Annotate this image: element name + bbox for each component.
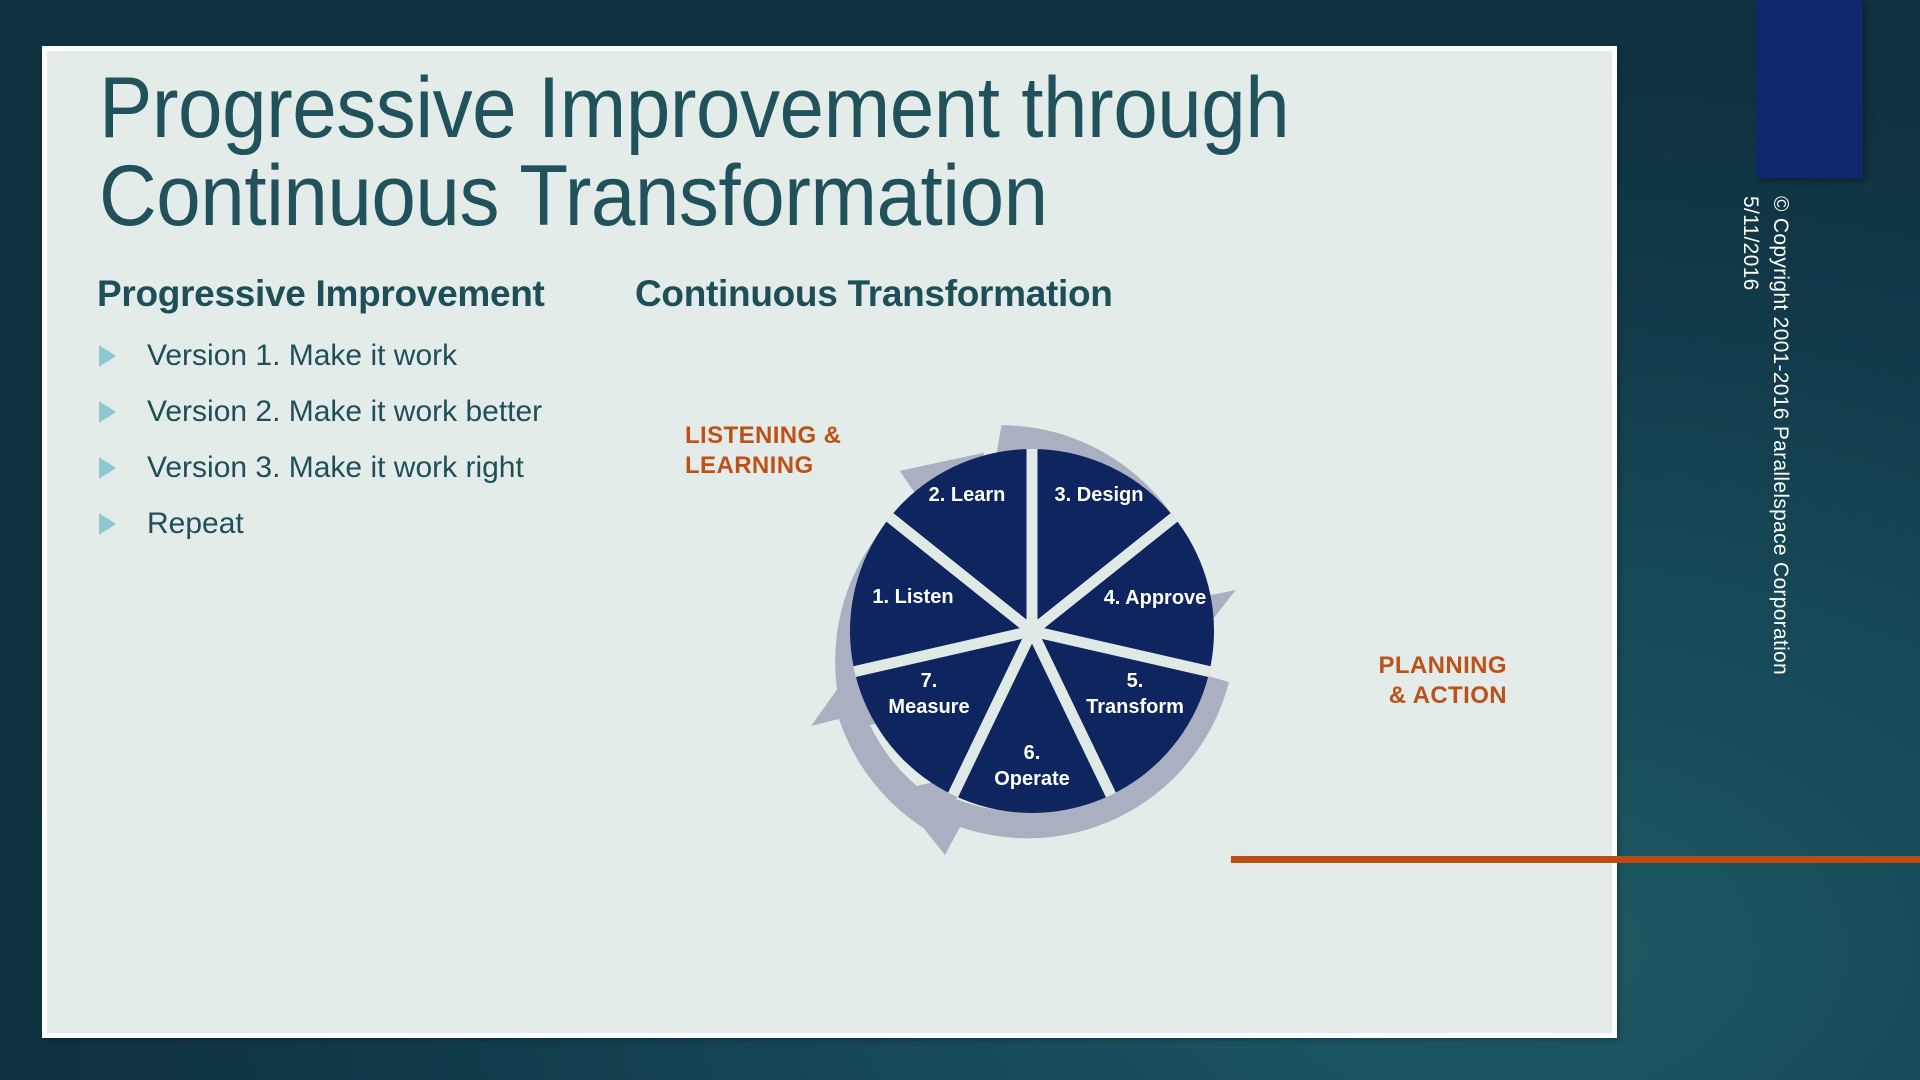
progressive-improvement-list: Version 1. Make it work Version 2. Make … <box>97 339 637 541</box>
planning-action-label: PLANNING & ACTION <box>1207 651 1507 711</box>
right-column-heading: Continuous Transformation <box>635 273 1195 315</box>
copyright-text: © Copyright 2001-2016 Parallelspace Corp… <box>1768 196 1792 675</box>
segment-label-7-line2: Measure <box>888 696 969 718</box>
segment-label-7-line1: 7. <box>921 670 938 692</box>
list-item: Repeat <box>97 507 637 541</box>
segment-label-1: 1. Listen <box>872 586 953 608</box>
date-text: 5/11/2016 <box>1738 196 1762 291</box>
page-title: Progressive Improvement through Continuo… <box>99 65 1448 240</box>
triangle-bullet-icon <box>99 513 116 535</box>
list-item-label: Version 2. Make it work better <box>147 395 542 429</box>
segment-label-2: 2. Learn <box>929 484 1006 506</box>
segment-label-4: 4. Approve <box>1104 587 1207 609</box>
listening-learning-label: LISTENING & LEARNING <box>685 421 915 481</box>
left-column-heading: Progressive Improvement <box>97 273 637 315</box>
orange-divider-line <box>1231 856 1920 863</box>
segment-label-6-line1: 6. <box>1024 742 1041 764</box>
list-item-label: Repeat <box>147 507 244 541</box>
segment-label-6-line2: Operate <box>994 768 1070 790</box>
continuous-transformation-diagram: LISTENING & LEARNING <box>607 321 1687 1021</box>
list-item: Version 2. Make it work better <box>97 395 637 429</box>
triangle-bullet-icon <box>99 345 116 367</box>
segment-label-5-line1: 5. <box>1127 670 1144 692</box>
triangle-bullet-icon <box>99 457 116 479</box>
slide-canvas: Progressive Improvement through Continuo… <box>0 0 1920 1080</box>
segment-label-3: 3. Design <box>1055 484 1144 506</box>
list-item: Version 1. Make it work <box>97 339 637 373</box>
list-item: Version 3. Make it work right <box>97 451 637 485</box>
content-panel: Progressive Improvement through Continuo… <box>42 46 1617 1038</box>
left-column: Progressive Improvement Version 1. Make … <box>97 273 637 563</box>
segment-label-5-line2: Transform <box>1086 696 1184 718</box>
list-item-label: Version 3. Make it work right <box>147 451 524 485</box>
triangle-bullet-icon <box>99 401 116 423</box>
list-item-label: Version 1. Make it work <box>147 339 457 373</box>
accent-bar <box>1756 0 1863 178</box>
